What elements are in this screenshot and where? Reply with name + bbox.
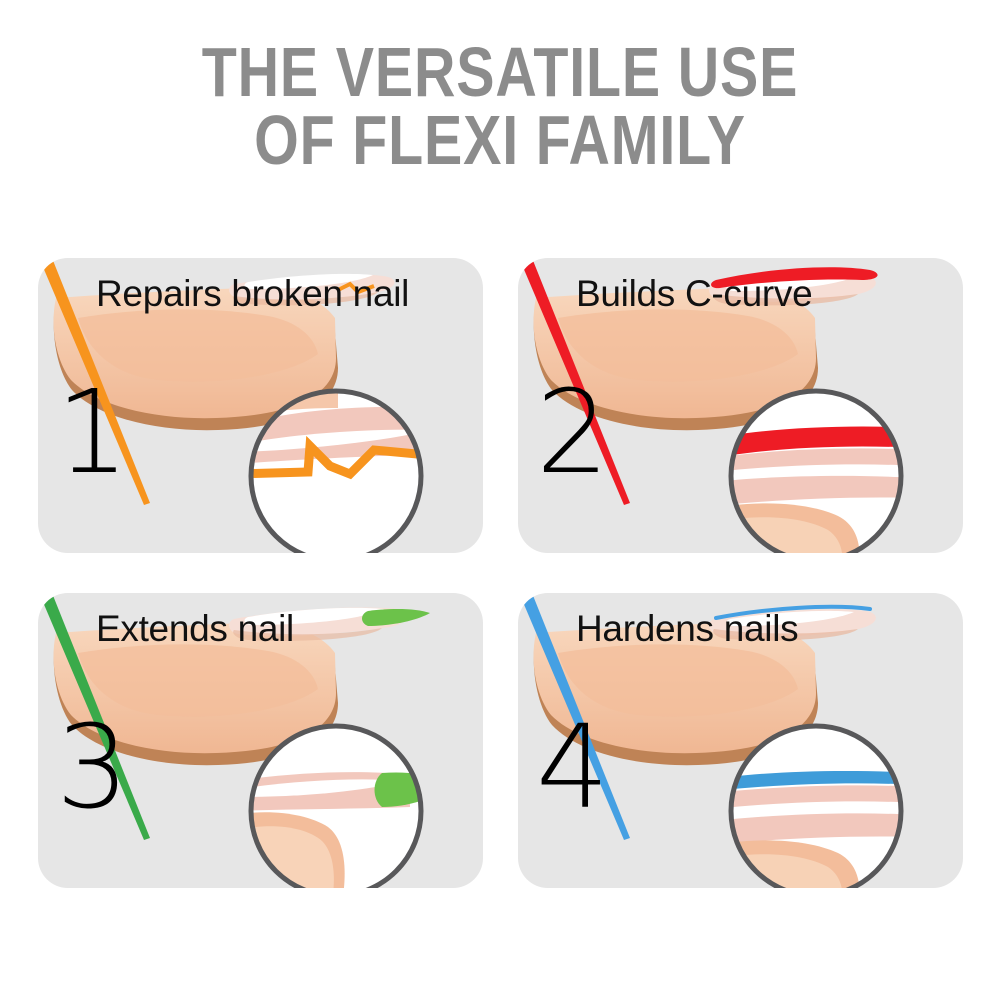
panel-repairs-broken-nail[interactable]: Repairs broken nail 1: [38, 258, 483, 553]
nail-extension-green: [362, 609, 430, 626]
panel-caption-4: Hardens nails: [576, 607, 798, 651]
panel-caption-2: Builds C-curve: [576, 272, 812, 316]
title-line-1: THE VERSATILE USE: [90, 38, 910, 106]
panel-extends-nail[interactable]: Extends nail 3: [38, 593, 483, 888]
panel-caption-3: Extends nail: [96, 607, 294, 651]
panel-number-3: 3: [56, 711, 129, 826]
page-title: THE VERSATILE USE OF FLEXI FAMILY: [0, 38, 1000, 174]
panel-hardens-nails[interactable]: Hardens nails 4: [518, 593, 963, 888]
panel-grid: Repairs broken nail 1: [38, 258, 963, 888]
panel-number-4: 4: [536, 711, 609, 826]
title-line-2: OF FLEXI FAMILY: [90, 106, 910, 174]
panel-builds-c-curve[interactable]: Builds C-curve 2: [518, 258, 963, 553]
panel-number-1: 1: [56, 376, 129, 491]
infographic-root: THE VERSATILE USE OF FLEXI FAMILY: [0, 0, 1000, 1000]
panel-caption-1: Repairs broken nail: [96, 272, 409, 316]
panel-number-2: 2: [536, 376, 609, 491]
